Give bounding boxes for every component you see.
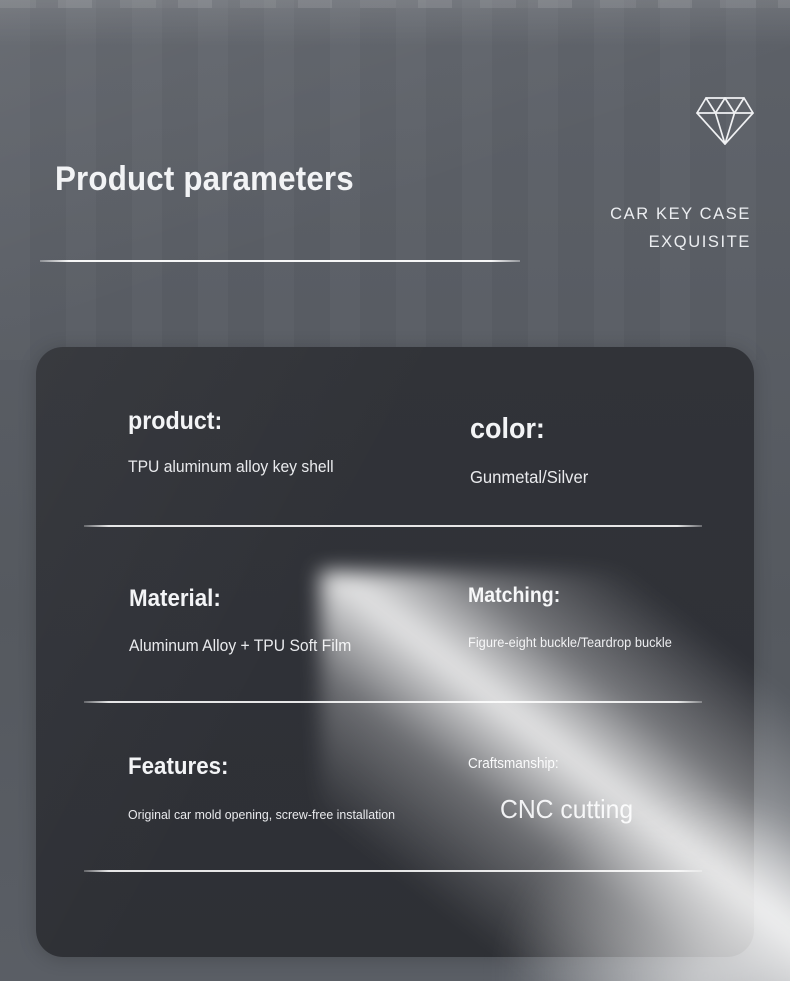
parameter-features: Features: Original car mold opening, scr… [128, 755, 409, 821]
parameter-label: color: [470, 415, 586, 444]
parameter-rows: product: TPU aluminum alloy key shell co… [36, 347, 754, 957]
parameter-label: product: [128, 409, 329, 434]
page-title: Product parameters [55, 160, 354, 199]
parameter-craftsmanship: Craftsmanship: CNC cutting [468, 757, 640, 822]
parameter-label: Matching: [468, 585, 668, 606]
diamond-icon [694, 95, 756, 147]
product-parameters-page: Product parameters CAR KEY CASE EXQUISIT… [0, 0, 790, 981]
brand-line-1: CAR KEY CASE [610, 200, 751, 228]
parameter-value: Gunmetal/Silver [470, 469, 588, 487]
parameter-value: Aluminum Alloy + TPU Soft Film [129, 638, 351, 655]
row-divider-2 [84, 701, 702, 703]
parameter-label: Features: [128, 755, 389, 779]
parameter-value: Figure-eight buckle/Teardrop buckle [468, 636, 672, 650]
title-underline [40, 260, 520, 262]
parameter-label: Material: [129, 587, 347, 611]
parameter-color: color: Gunmetal/Silver [470, 415, 595, 487]
row-divider-1 [84, 525, 702, 527]
parameter-matching: Matching: Figure-eight buckle/Teardrop b… [468, 585, 683, 650]
parameter-value: Original car mold opening, screw-free in… [128, 808, 395, 821]
parameters-card: product: TPU aluminum alloy key shell co… [36, 347, 754, 957]
parameter-material: Material: Aluminum Alloy + TPU Soft Film [129, 587, 363, 655]
brand-tagline: CAR KEY CASE EXQUISITE [610, 200, 751, 257]
row-divider-3 [84, 870, 702, 872]
top-edge-band [0, 0, 790, 8]
brand-line-2: EXQUISITE [610, 228, 751, 256]
parameter-value: CNC cutting [500, 796, 633, 822]
parameter-value: TPU aluminum alloy key shell [128, 459, 334, 476]
parameter-label: Craftsmanship: [468, 757, 628, 772]
parameter-product: product: TPU aluminum alloy key shell [128, 409, 344, 476]
